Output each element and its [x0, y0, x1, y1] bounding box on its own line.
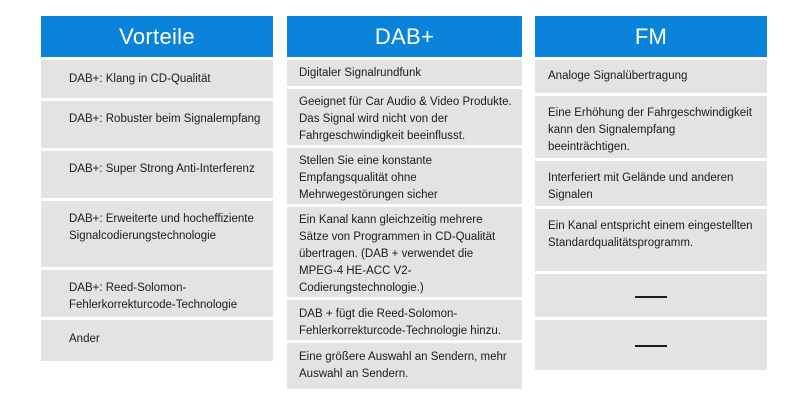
- column-header-fm: FM: [535, 16, 767, 57]
- table-cell: Ander: [41, 320, 273, 361]
- table-cell: Analoge Signalübertragung: [535, 60, 767, 93]
- table-cell: DAB+: Klang in CD-Qualität: [41, 60, 273, 98]
- table-cell: DAB+: Erweiterte und hocheffiziente Sign…: [41, 201, 273, 267]
- table-cell: Ein Kanal entspricht einem eingestellten…: [535, 209, 767, 271]
- table-cell: DAB+: Super Strong Anti-Interferenz: [41, 151, 273, 198]
- column-fm: FM Analoge Signalübertragung Eine Erhöhu…: [535, 16, 767, 373]
- table-cell: DAB+: Robuster beim Signalempfang: [41, 101, 273, 148]
- column-header-dabplus: DAB+: [287, 16, 522, 57]
- table-cell: Geeignet für Car Audio & Video Produkte.…: [287, 89, 522, 145]
- table-cell: Digitaler Signalrundfunk: [287, 60, 522, 86]
- table-cell: Eine Erhöhung der Fahrgeschwindigkeit ka…: [535, 96, 767, 158]
- table-cell: Stellen Sie eine konstante Empfangsquali…: [287, 148, 522, 204]
- comparison-table: Vorteile DAB+: Klang in CD-Qualität DAB+…: [0, 0, 800, 419]
- table-cell: DAB + fügt die Reed-Solomon-Fehlerkorrek…: [287, 300, 522, 340]
- table-cell-empty: [535, 274, 767, 317]
- table-cell: DAB+: Reed-Solomon-Fehlerkorrekturcode-T…: [41, 270, 273, 317]
- dash-placeholder-icon: [535, 345, 767, 347]
- table-cell: Interferiert mit Gelände und anderen Sig…: [535, 161, 767, 206]
- column-vorteile: Vorteile DAB+: Klang in CD-Qualität DAB+…: [41, 16, 273, 364]
- column-dabplus: DAB+ Digitaler Signalrundfunk Geeignet f…: [287, 16, 522, 392]
- table-cell: Ein Kanal kann gleichzeitig mehrere Sätz…: [287, 207, 522, 297]
- column-header-vorteile: Vorteile: [41, 16, 273, 57]
- table-cell-empty: [535, 320, 767, 370]
- dash-placeholder-icon: [535, 296, 767, 298]
- table-cell: Eine größere Auswahl an Sendern, mehr Au…: [287, 343, 522, 389]
